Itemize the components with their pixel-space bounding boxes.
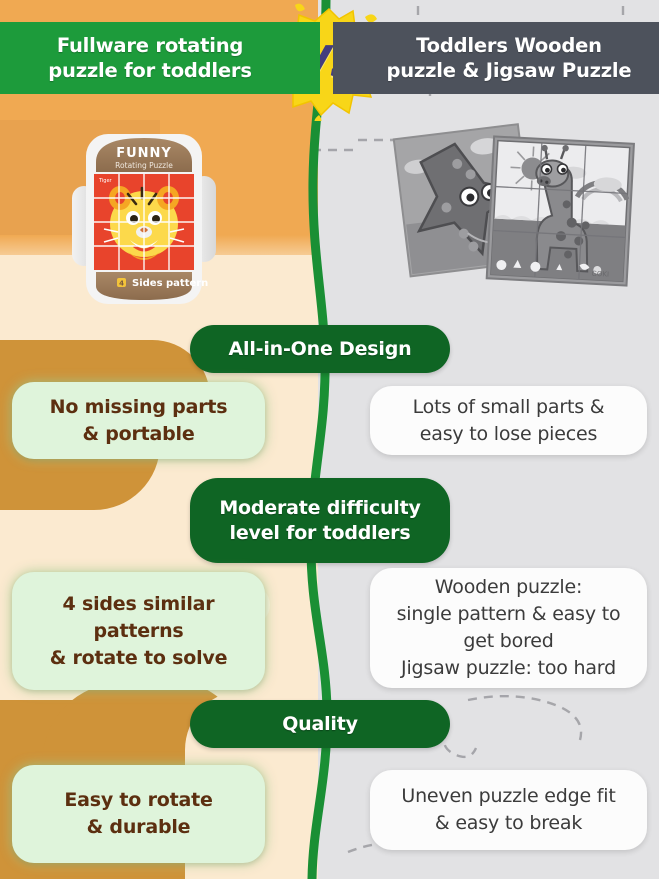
con-box-3: Uneven puzzle edge fit & easy to break (370, 770, 647, 850)
svg-text:Rotating Puzzle: Rotating Puzzle (115, 161, 173, 170)
svg-text:Sides pattern: Sides pattern (132, 278, 208, 289)
pro-box-3: Easy to rotate & durable (12, 765, 265, 863)
pro-box-1: No missing parts & portable (12, 382, 265, 459)
svg-text:Tiger: Tiger (98, 178, 113, 184)
left-header-title: Fullware rotating puzzle for toddlers (0, 22, 300, 94)
right-header-title: Toddlers Wooden puzzle & Jigsaw Puzzle (359, 22, 659, 94)
feature-banner-difficulty: Moderate difficulty level for toddlers (190, 478, 450, 563)
feature-banner-all-in-one: All-in-One Design (190, 325, 450, 373)
competitor-image-wooden-puzzles: GOKI (390, 112, 640, 307)
svg-text:FUNNY: FUNNY (116, 146, 172, 161)
pro-box-2: 4 sides similar patterns & rotate to sol… (12, 572, 265, 690)
feature-banner-quality: Quality (190, 700, 450, 748)
comparison-infographic: FUNNY Rotating Puzzle (0, 0, 659, 879)
product-image-rotating-puzzle: FUNNY Rotating Puzzle (70, 128, 218, 310)
svg-text:GOKI: GOKI (591, 270, 609, 279)
svg-text:4: 4 (119, 280, 124, 288)
con-box-1: Lots of small parts & easy to lose piece… (370, 386, 647, 455)
con-box-2: Wooden puzzle: single pattern & easy to … (370, 568, 647, 688)
